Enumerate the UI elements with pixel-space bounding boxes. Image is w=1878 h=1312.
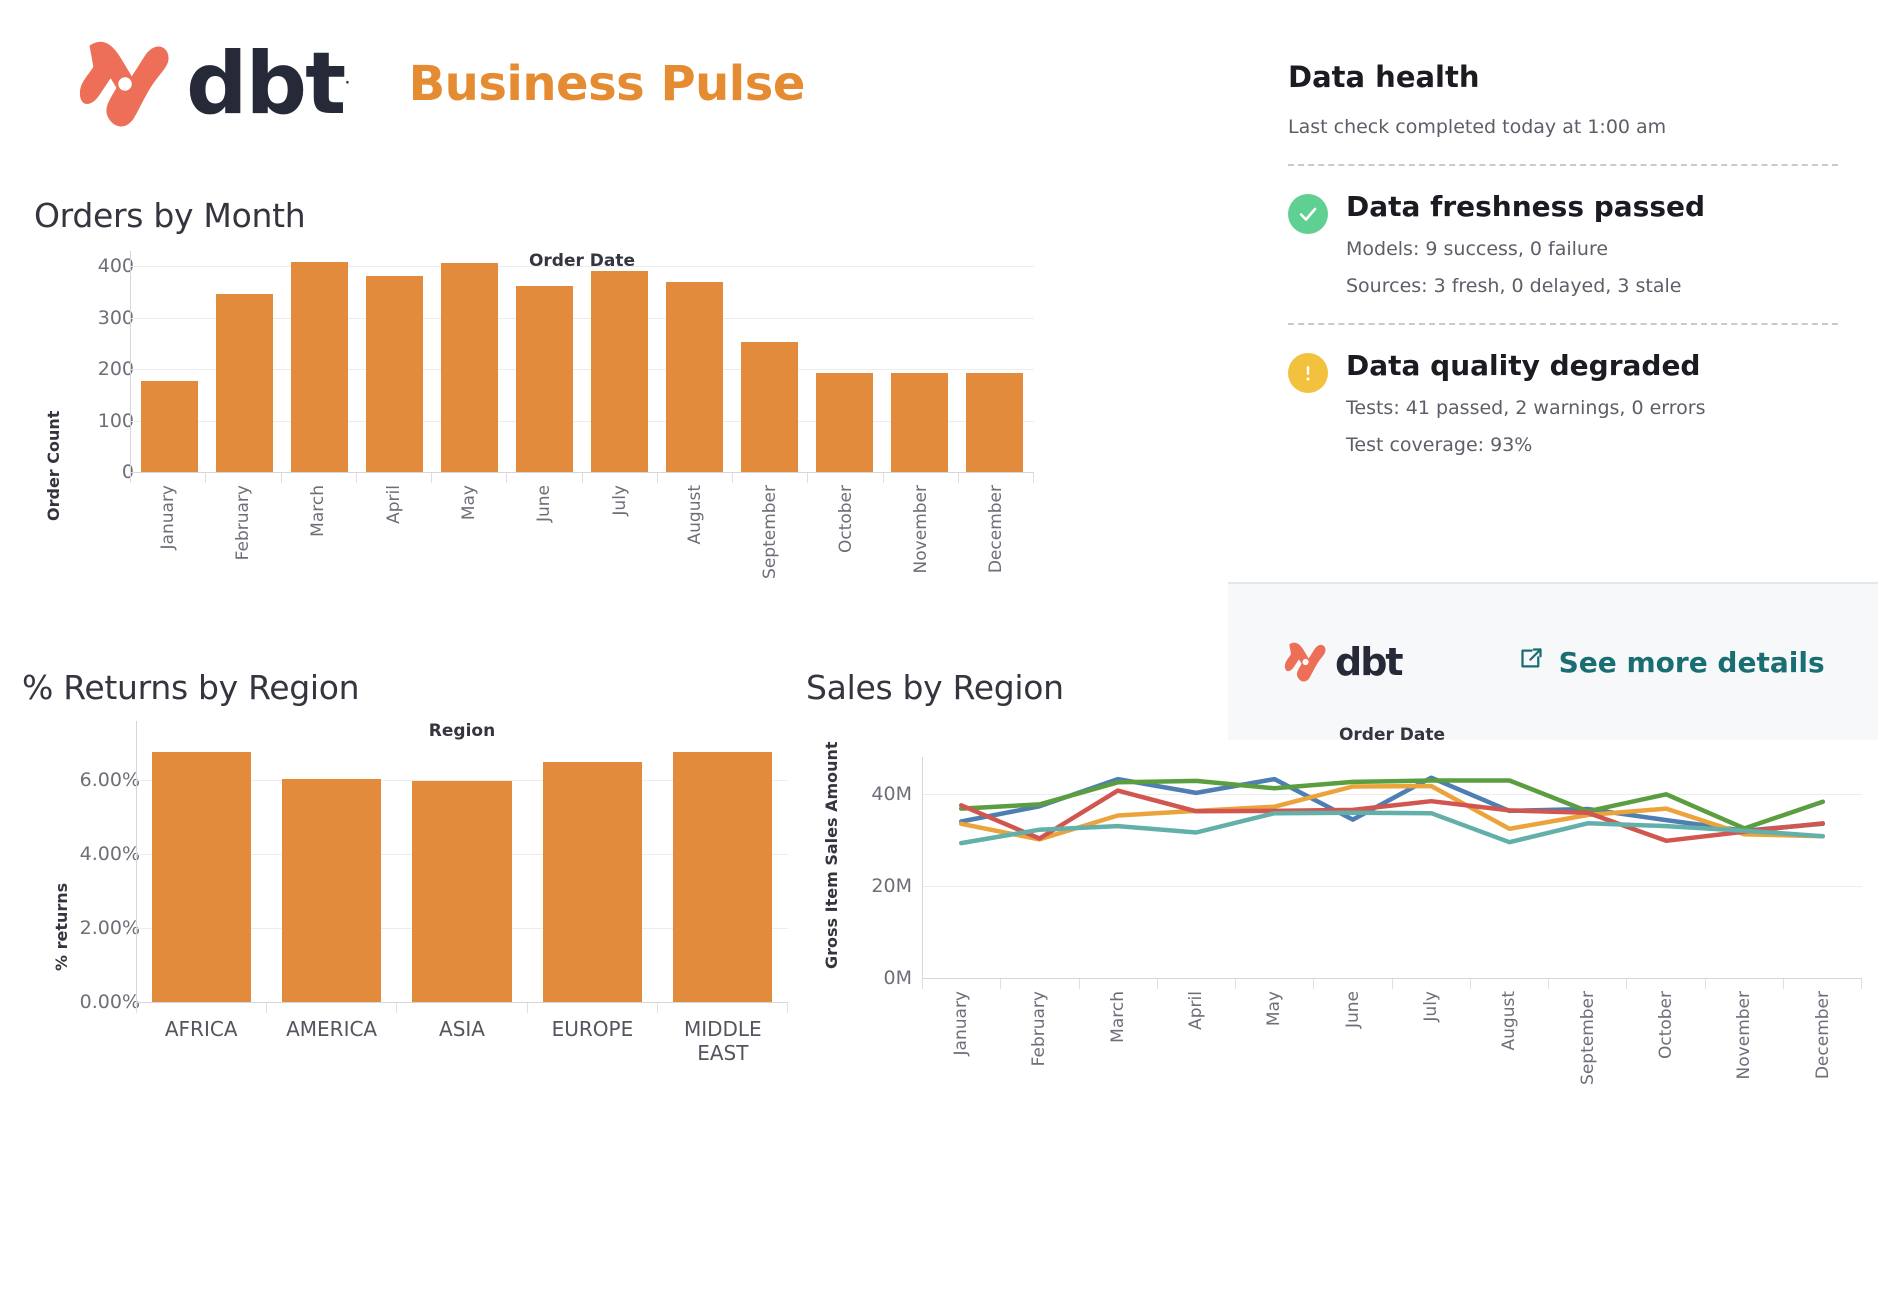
divider (1288, 323, 1838, 325)
orders-y-axis-title: Order Count (44, 361, 63, 521)
bar-slot (658, 721, 788, 1002)
divider (1288, 164, 1838, 166)
x-tick (1393, 979, 1471, 989)
y-tick-label: 6.00% (80, 769, 140, 791)
bar[interactable] (543, 762, 642, 1002)
x-axis-label-text: May (459, 485, 479, 520)
x-axis-label-text: July (610, 485, 630, 516)
x-axis-label-text: June (1343, 991, 1363, 1028)
bar[interactable] (152, 752, 251, 1002)
x-axis-label-text: December (1813, 991, 1833, 1079)
y-tick-label: 200 (98, 358, 134, 380)
dbt-logo: dbt. (78, 36, 349, 132)
sales-section-title: Sales by Region (806, 668, 1870, 707)
x-tick (282, 473, 357, 483)
check-circle-icon (1288, 194, 1328, 234)
orders-section-title: Orders by Month (34, 196, 1034, 235)
x-axis-label-text: April (384, 485, 404, 524)
bar-slot (266, 721, 396, 1002)
x-tick (884, 473, 959, 483)
x-axis-label-text: August (685, 485, 705, 545)
x-tick (136, 1003, 267, 1013)
x-axis-label-text: December (986, 485, 1006, 573)
sales-x-tick-marks (922, 979, 1862, 989)
x-tick (658, 1003, 788, 1013)
x-axis-label-text: February (233, 485, 253, 560)
sales-y-axis-title: Gross Item Sales Amount (822, 739, 841, 969)
x-axis-label: October (1627, 991, 1705, 1131)
x-tick (267, 1003, 397, 1013)
x-axis-label: August (1470, 991, 1548, 1131)
x-tick (1001, 979, 1079, 989)
x-axis-label: November (883, 485, 958, 605)
x-axis-label: December (1784, 991, 1862, 1131)
x-tick (432, 473, 507, 483)
bar[interactable] (673, 752, 772, 1002)
x-tick (507, 473, 582, 483)
x-tick (1080, 979, 1158, 989)
x-axis-label-text: June (534, 485, 554, 522)
data-health-title: Data health (1288, 60, 1838, 94)
x-tick (130, 473, 206, 483)
x-axis-label: May (431, 485, 506, 605)
dbt-wordmark: dbt. (186, 41, 349, 127)
orders-x-labels: JanuaryFebruaryMarchAprilMayJuneJulyAugu… (130, 485, 1034, 605)
x-axis-label: April (1157, 991, 1235, 1131)
sales-y-ticks: 0M20M40M (846, 757, 922, 977)
bar[interactable] (141, 381, 198, 472)
x-axis-label: September (733, 485, 808, 605)
bar-slot (807, 251, 882, 472)
orders-by-month-chart: Orders by Month Order Date Order Count 0… (34, 196, 1034, 671)
x-tick (1236, 979, 1314, 989)
x-axis-label: January (922, 991, 1000, 1131)
health-item-detail: Tests: 41 passed, 2 warnings, 0 errors (1346, 397, 1838, 419)
x-tick (1314, 979, 1392, 989)
x-axis-label-text: January (951, 991, 971, 1055)
x-axis-label-text: April (1186, 991, 1206, 1030)
x-axis-label: March (281, 485, 356, 605)
x-axis-label-text: October (836, 485, 856, 553)
health-item: Data quality degradedTests: 41 passed, 2… (1288, 351, 1838, 456)
returns-by-region-chart: % Returns by Region Region % returns 0.0… (22, 668, 812, 1121)
x-axis-label-text: November (1734, 991, 1754, 1079)
dashboard-header: dbt. Business Pulse (78, 36, 805, 132)
x-axis-label: December (959, 485, 1034, 605)
x-axis-label: October (808, 485, 883, 605)
warning-circle-icon (1288, 353, 1328, 393)
x-tick (1706, 979, 1784, 989)
returns-y-axis-title: % returns (52, 851, 71, 971)
x-axis-label-text: August (1499, 991, 1519, 1051)
x-axis-label: AMERICA (266, 1017, 396, 1065)
y-tick-label: 300 (98, 307, 134, 329)
x-axis-label-text: November (911, 485, 931, 573)
bar-slot (732, 251, 807, 472)
x-axis-label: January (130, 485, 205, 605)
x-axis-label-text: July (1421, 991, 1441, 1022)
orders-bars (130, 251, 1034, 472)
x-axis-label: AFRICA (136, 1017, 266, 1065)
y-tick-label: 100 (98, 410, 134, 432)
data-health-subtitle: Last check completed today at 1:00 am (1288, 116, 1838, 138)
bar-slot (136, 721, 266, 1002)
x-axis-label-text: March (1108, 991, 1128, 1043)
x-tick (922, 979, 1001, 989)
y-tick-label: 20M (871, 875, 912, 897)
x-axis-label: July (1392, 991, 1470, 1131)
bar-slot (207, 251, 282, 472)
sales-by-region-chart: Sales by Region Order Date Gross Item Sa… (806, 668, 1870, 1151)
data-health-panel: Data health Last check completed today a… (1288, 60, 1838, 456)
page-title: Business Pulse (409, 56, 805, 112)
data-health-items: Data freshness passedModels: 9 success, … (1288, 192, 1838, 456)
x-axis-label-text: January (158, 485, 178, 549)
y-tick-label: 2.00% (80, 917, 140, 939)
y-tick-label: 400 (98, 255, 134, 277)
sales-x-labels: JanuaryFebruaryMarchAprilMayJuneJulyAugu… (922, 991, 1862, 1131)
returns-bars (136, 721, 788, 1002)
x-axis-label: February (1000, 991, 1078, 1131)
bar[interactable] (282, 779, 381, 1002)
x-axis-label: ASIA (397, 1017, 527, 1065)
x-tick (1784, 979, 1862, 989)
bar[interactable] (216, 294, 273, 472)
bar[interactable] (516, 286, 573, 472)
returns-x-labels: AFRICAAMERICAASIAEUROPEMIDDLE EAST (136, 1017, 788, 1065)
dbt-x-mark-icon (78, 36, 174, 132)
bar[interactable] (816, 373, 873, 472)
sales-chart-header: Order Date (922, 725, 1862, 745)
x-axis-label: MIDDLE EAST (658, 1017, 788, 1065)
bar[interactable] (291, 262, 348, 472)
y-tick-label: 4.00% (80, 843, 140, 865)
x-tick (733, 473, 808, 483)
x-axis-label-text: May (1264, 991, 1284, 1026)
x-tick (583, 473, 658, 483)
x-axis-label: June (1314, 991, 1392, 1131)
returns-section-title: % Returns by Region (22, 668, 812, 707)
x-tick (206, 473, 281, 483)
x-tick (1471, 979, 1549, 989)
returns-x-tick-marks (136, 1003, 788, 1013)
bar[interactable] (966, 373, 1023, 472)
bar-slot (132, 251, 207, 472)
x-tick (1158, 979, 1236, 989)
x-tick (357, 473, 432, 483)
bar-slot (527, 721, 657, 1002)
bar-slot (882, 251, 957, 472)
x-axis-label-text: October (1656, 991, 1676, 1059)
x-axis-label: EUROPE (527, 1017, 657, 1065)
orders-x-tick-marks (130, 473, 1034, 483)
health-item-detail: Models: 9 success, 0 failure (1346, 238, 1838, 260)
bar-slot (357, 251, 432, 472)
y-tick-label: 0M (884, 967, 912, 989)
bar-slot (582, 251, 657, 472)
sales-lines (922, 757, 1862, 978)
x-tick (959, 473, 1034, 483)
y-tick-label: 0.00% (80, 991, 140, 1013)
bar-slot (432, 251, 507, 472)
x-axis-label: September (1549, 991, 1627, 1131)
bar-slot (507, 251, 582, 472)
x-axis-label: June (507, 485, 582, 605)
x-axis-label: July (582, 485, 657, 605)
health-item-detail: Sources: 3 fresh, 0 delayed, 3 stale (1346, 275, 1838, 297)
bar-slot (657, 251, 732, 472)
bar[interactable] (741, 342, 798, 472)
bar[interactable] (441, 263, 498, 472)
health-item: Data freshness passedModels: 9 success, … (1288, 192, 1838, 297)
health-item-detail: Test coverage: 93% (1346, 434, 1838, 456)
x-axis-label: August (657, 485, 732, 605)
bar[interactable] (891, 373, 948, 472)
health-item-heading: Data quality degraded (1346, 351, 1838, 382)
bar-slot (282, 251, 357, 472)
health-item-heading: Data freshness passed (1346, 192, 1838, 223)
x-axis-label: March (1079, 991, 1157, 1131)
x-tick (1549, 979, 1627, 989)
x-axis-label: April (356, 485, 431, 605)
bar[interactable] (666, 282, 723, 472)
x-tick (1627, 979, 1705, 989)
y-tick-label: 40M (871, 783, 912, 805)
x-axis-label: May (1235, 991, 1313, 1131)
x-tick (528, 1003, 658, 1013)
x-axis-label-text: September (1578, 991, 1598, 1085)
bar[interactable] (412, 781, 511, 1002)
bar[interactable] (366, 276, 423, 472)
bar-slot (397, 721, 527, 1002)
x-axis-label: February (205, 485, 280, 605)
x-axis-label-text: September (760, 485, 780, 579)
x-axis-label-text: February (1029, 991, 1049, 1066)
x-axis-label-text: March (308, 485, 328, 537)
x-axis-label: November (1705, 991, 1783, 1131)
x-tick (397, 1003, 527, 1013)
x-tick (808, 473, 883, 483)
x-tick (658, 473, 733, 483)
bar-slot (957, 251, 1032, 472)
bar[interactable] (591, 271, 648, 472)
